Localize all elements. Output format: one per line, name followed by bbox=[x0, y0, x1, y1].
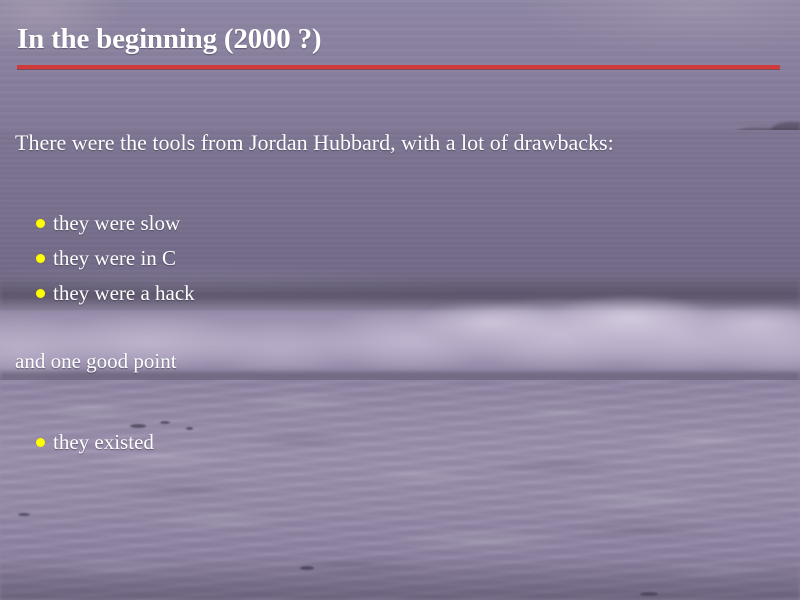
list-item-label: they were in C bbox=[53, 246, 176, 271]
list-item-label: they were a hack bbox=[53, 281, 195, 306]
list-item-label: they were slow bbox=[53, 211, 180, 236]
drawbacks-bullet-list: they were slow they were in C they were … bbox=[36, 206, 195, 311]
list-item: they were in C bbox=[36, 241, 195, 276]
list-item: they existed bbox=[36, 425, 154, 460]
bullet-dot-icon bbox=[36, 289, 45, 298]
bullet-dot-icon bbox=[36, 438, 45, 447]
presentation-slide: In the beginning (2000 ?) There were the… bbox=[0, 0, 800, 600]
intro-paragraph: There were the tools from Jordan Hubbard… bbox=[15, 130, 614, 156]
slide-content: In the beginning (2000 ?) There were the… bbox=[0, 0, 800, 600]
slide-title: In the beginning (2000 ?) bbox=[17, 23, 321, 56]
good-points-bullet-list: they existed bbox=[36, 425, 154, 460]
good-point-intro: and one good point bbox=[15, 349, 177, 374]
list-item-label: they existed bbox=[53, 430, 154, 455]
list-item: they were a hack bbox=[36, 276, 195, 311]
bullet-dot-icon bbox=[36, 219, 45, 228]
list-item: they were slow bbox=[36, 206, 195, 241]
title-underline-rule bbox=[17, 65, 780, 69]
bullet-dot-icon bbox=[36, 254, 45, 263]
